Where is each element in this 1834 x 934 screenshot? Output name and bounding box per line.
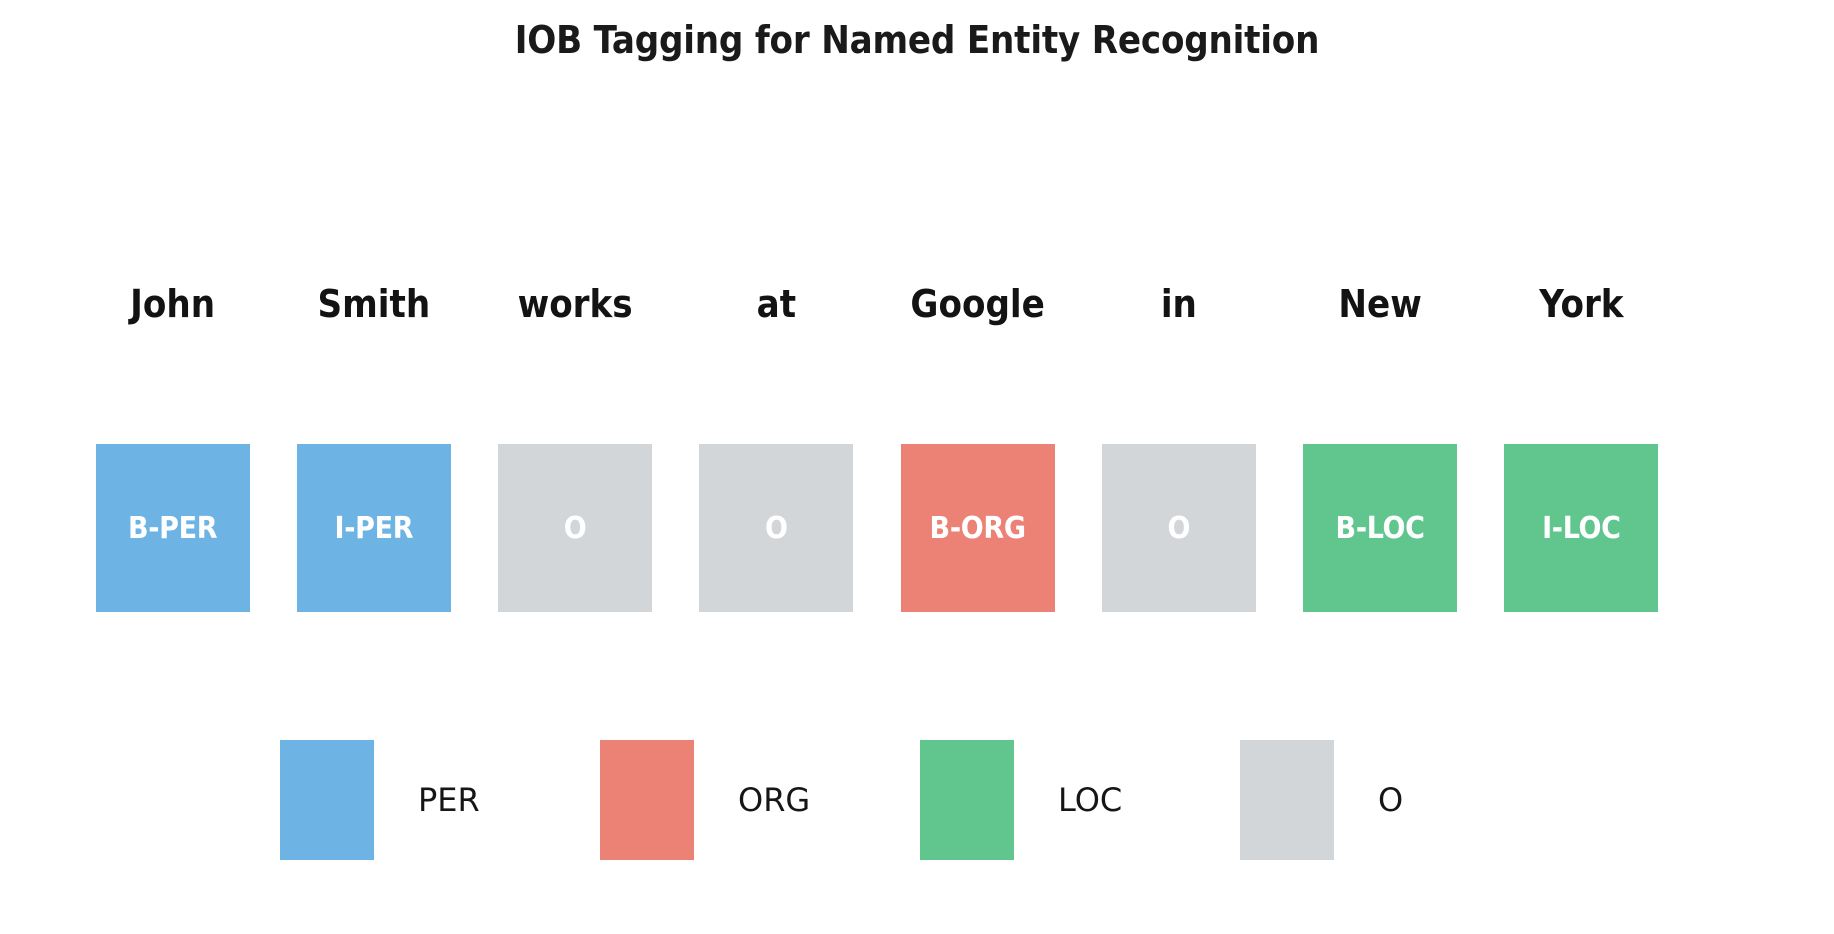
iob-tag-row: B-PERI-PEROOB-ORGOB-LOCI-LOC (72, 444, 1682, 612)
tag-cell: O (676, 444, 877, 612)
tag-box-org[interactable]: B-ORG (901, 444, 1055, 612)
token-word: Google (877, 276, 1078, 332)
tag-label: I-LOC (1542, 511, 1621, 546)
tag-label: I-PER (335, 511, 414, 546)
tag-cell: O (1078, 444, 1279, 612)
legend-swatch-org (600, 740, 694, 860)
legend-item-per[interactable]: PER (280, 739, 600, 861)
legend-label: PER (418, 781, 480, 819)
tag-box-loc[interactable]: I-LOC (1504, 444, 1658, 612)
legend-swatch-loc (920, 740, 1014, 860)
tag-label: O (1168, 511, 1191, 546)
legend-swatch-o (1240, 740, 1334, 860)
token-word: York (1481, 276, 1682, 332)
tag-label: O (765, 511, 788, 546)
token-word: John (72, 276, 273, 332)
tag-cell: B-ORG (877, 444, 1078, 612)
tag-label: B-LOC (1336, 511, 1425, 546)
tag-box-per[interactable]: B-PER (96, 444, 250, 612)
legend-label: LOC (1058, 781, 1122, 819)
legend-item-o[interactable]: O (1240, 739, 1560, 861)
tag-cell: O (475, 444, 676, 612)
tag-cell: B-PER (72, 444, 273, 612)
token-word: in (1078, 276, 1279, 332)
token-word: Smith (273, 276, 474, 332)
tag-box-loc[interactable]: B-LOC (1303, 444, 1457, 612)
legend-item-loc[interactable]: LOC (920, 739, 1240, 861)
tag-cell: B-LOC (1280, 444, 1481, 612)
tag-box-per[interactable]: I-PER (297, 444, 451, 612)
tag-box-o[interactable]: O (498, 444, 652, 612)
legend-swatch-per (280, 740, 374, 860)
legend-label: O (1378, 781, 1403, 819)
tag-box-o[interactable]: O (699, 444, 853, 612)
token-word: New (1280, 276, 1481, 332)
sentence-token-row: JohnSmithworksatGoogleinNewYork (72, 276, 1682, 332)
tag-cell: I-LOC (1481, 444, 1682, 612)
page-title: IOB Tagging for Named Entity Recognition (0, 18, 1834, 62)
legend: PERORGLOCO (280, 739, 1560, 861)
tag-label: O (564, 511, 587, 546)
legend-label: ORG (738, 781, 810, 819)
tag-box-o[interactable]: O (1102, 444, 1256, 612)
tag-label: B-ORG (930, 511, 1026, 546)
token-word: works (475, 276, 676, 332)
token-word: at (676, 276, 877, 332)
tag-label: B-PER (128, 511, 217, 546)
legend-item-org[interactable]: ORG (600, 739, 920, 861)
tag-cell: I-PER (273, 444, 474, 612)
